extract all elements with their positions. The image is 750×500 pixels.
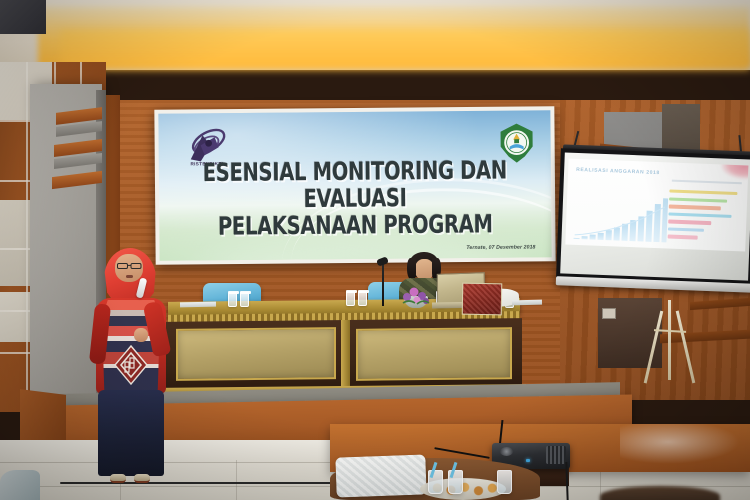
screen-tripod-stand: [640, 300, 700, 384]
drinking-glass: [497, 470, 512, 494]
slide-chart-legend: [667, 188, 741, 244]
drinking-glass: [240, 292, 249, 307]
drinking-glass: [346, 291, 355, 306]
slide-title: REALISASI ANGGARAN 2018: [576, 167, 660, 176]
projected-slide: REALISASI ANGGARAN 2018: [565, 159, 748, 252]
framed-photo-panel: [462, 283, 503, 316]
banner-date-place: Ternate, 07 Desember 2018: [466, 244, 535, 251]
head-table-carved-panel: [356, 327, 512, 381]
legend-item: [669, 204, 741, 212]
projection-screen-assembly: REALISASI ANGGARAN 2018: [555, 144, 750, 311]
projection-screen-surface: REALISASI ANGGARAN 2018: [560, 152, 750, 280]
projection-screen-frame: REALISASI ANGGARAN 2018: [556, 148, 750, 285]
foreground-left-object: [0, 470, 40, 500]
legend-item: [668, 226, 740, 234]
head-table-carved-panel: [176, 327, 336, 381]
eyeglasses-icon: [117, 263, 142, 269]
foreground-ledge-highlight: [620, 424, 740, 464]
drinking-glass: [358, 291, 367, 306]
wall-power-outlet: [602, 308, 616, 319]
legend-item: [668, 219, 740, 227]
event-banner: RISTEKDIKTI ESENSIAL MONITORING DAN EVAL…: [154, 106, 555, 264]
hand: [134, 328, 148, 342]
legend-item: [668, 211, 740, 219]
legend-item: [669, 196, 741, 204]
papers: [512, 300, 542, 306]
cove-light-glow-inner: [60, 30, 750, 70]
standing-presenter: [86, 248, 178, 490]
projector-lens-icon: [500, 447, 513, 456]
mouth: [126, 275, 133, 278]
papers: [180, 302, 216, 308]
flower-arrangement: [399, 283, 433, 307]
wrapped-snacks: [335, 454, 426, 497]
slide-subtitle-rule: [672, 180, 742, 185]
hair-left: [407, 258, 416, 280]
chart-bar: [574, 237, 580, 239]
microphone-stand: [382, 262, 384, 306]
banner-title-line2: PELAKSANAAN PROGRAM: [159, 210, 551, 240]
banner-title-line1: ESENSIAL MONITORING DAN EVALUASI: [203, 155, 507, 213]
banner-title: ESENSIAL MONITORING DAN EVALUASI PELAKSA…: [159, 156, 552, 240]
drinking-glass: [228, 292, 237, 307]
chart-trend-line: [574, 201, 667, 241]
ceiling-corner-shadow: [0, 0, 46, 34]
sandal: [134, 474, 150, 483]
slide-bar-chart: [574, 191, 668, 242]
slide-corner-graphic: [720, 159, 749, 180]
projector-status-led: [526, 459, 530, 462]
shawl-ikat-motif: [112, 344, 150, 386]
sandal: [110, 474, 126, 483]
legend-item: [669, 188, 741, 196]
skirt: [98, 390, 164, 476]
projector-vent: [546, 446, 566, 464]
presentation-room-photo: RISTEKDIKTI ESENSIAL MONITORING DAN EVAL…: [0, 0, 750, 500]
head-table-divider: [341, 320, 350, 390]
foreground-dark-object: [600, 486, 720, 500]
legend-item: [668, 234, 740, 242]
